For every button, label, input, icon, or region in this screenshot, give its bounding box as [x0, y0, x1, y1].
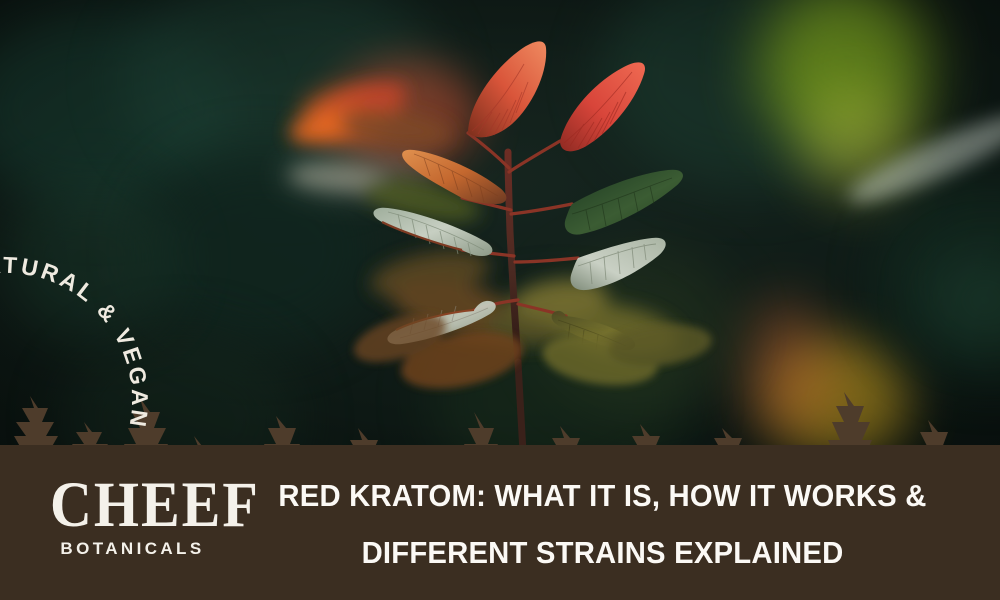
logo-subtitle: BOTANICALS: [50, 539, 215, 559]
leaf-red-upper-left: [468, 41, 546, 137]
page-title: RED KRATOM: WHAT IT IS, HOW IT WORKS & D…: [225, 468, 980, 582]
blog-hero-banner: ALL NATURAL & VEGAN CHEEF BOTANICALS RED…: [0, 0, 1000, 600]
leaf-red-upper-right: [560, 62, 645, 151]
leaf-pale-mid-right: [571, 238, 666, 290]
page-title-line-2: DIFFERENT STRAINS EXPLAINED: [240, 525, 965, 582]
cheef-botanicals-logo[interactable]: CHEEF BOTANICALS: [50, 472, 215, 562]
leaf-green-mid-right: [565, 170, 683, 235]
logo-wordmark: CHEEF: [50, 472, 215, 537]
badge-circular-text: ALL NATURAL & VEGAN: [0, 252, 153, 432]
page-title-line-1: RED KRATOM: WHAT IT IS, HOW IT WORKS &: [240, 468, 965, 525]
